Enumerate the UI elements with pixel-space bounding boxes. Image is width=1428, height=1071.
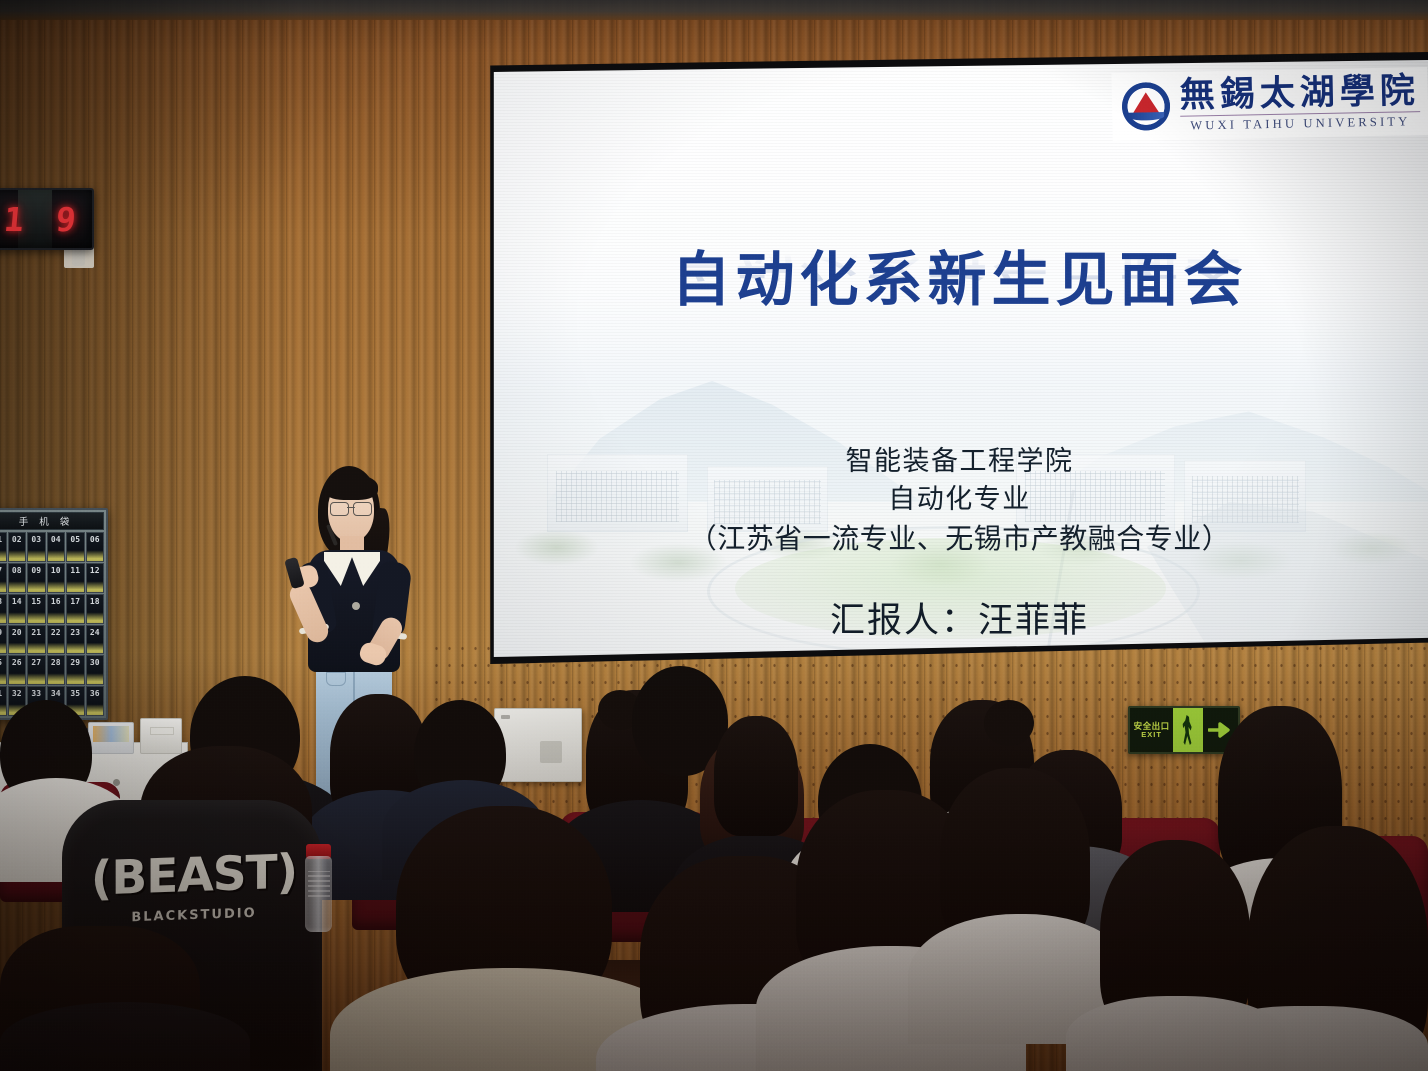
phone-pocket[interactable]: 13 [0,594,7,624]
glasses-lens-right [353,502,372,516]
led-clock-display: 1 9 [0,188,94,250]
wall-shadow-bottom [0,651,1428,1071]
glasses-icon [330,502,372,514]
projection-screen[interactable]: 無錫太湖學院 WUXI TAIHU UNIVERSITY 自动化系新生见面会 自… [491,60,1428,657]
slide-title: 自动化系新生见面会 [491,232,1428,317]
university-seal-icon [1122,82,1171,131]
phone-pocket[interactable]: 20 [8,625,27,655]
phone-pocket[interactable]: 09 [27,563,46,593]
projection-screen-bezel: 無錫太湖學院 WUXI TAIHU UNIVERSITY 自动化系新生见面会 自… [486,52,1428,664]
logo-text-block: 無錫太湖學院 WUXI TAIHU UNIVERSITY [1179,73,1420,134]
phone-pocket[interactable]: 18 [86,594,105,624]
university-logo: 無錫太湖學院 WUXI TAIHU UNIVERSITY [1111,67,1428,141]
phone-pocket[interactable]: 14 [8,594,27,624]
slide-body-line-2: 自动化专业 [491,480,1428,518]
shirt-emblem [352,602,360,610]
phone-pocket[interactable]: 12 [86,563,105,593]
phone-pocket[interactable]: 21 [27,625,46,655]
phone-pocket[interactable]: 15 [27,594,46,624]
phone-pocket[interactable]: 23 [66,625,85,655]
presenter-fringe [324,474,378,500]
phone-pocket[interactable]: 03 [27,532,46,562]
phone-pocket[interactable]: 06 [86,532,105,562]
phone-pocket[interactable]: 02 [8,532,27,562]
phone-pocket[interactable]: 04 [47,532,66,562]
phone-pocket[interactable]: 08 [8,563,27,593]
slide-presenter-line: 汇报人：汪菲菲 [491,592,1428,643]
phone-pocket[interactable]: 24 [86,625,105,655]
phone-pocket[interactable]: 07 [0,563,7,593]
phone-pocket[interactable]: 19 [0,625,7,655]
seal-wave-shape [1128,112,1165,121]
glasses-lens-left [330,502,349,516]
led-digit-left: 1 [2,200,25,239]
phone-pocket[interactable]: 01 [0,532,7,562]
phone-pocket[interactable]: 16 [47,594,66,624]
phone-pocket[interactable]: 05 [66,532,85,562]
phone-pocket[interactable]: 22 [47,625,66,655]
phone-pocket[interactable]: 10 [47,563,66,593]
slide-body-line-3: （江苏省一流专业、无锡市产教融合专业） [491,519,1428,559]
lecture-hall-photo: 無錫太湖學院 WUXI TAIHU UNIVERSITY 自动化系新生见面会 自… [0,0,1428,1071]
slide-body-line-1: 智能装备工程学院 [491,442,1428,480]
logo-chinese-name: 無錫太湖學院 [1179,73,1420,113]
phone-pocket[interactable]: 17 [66,594,85,624]
phone-pocket[interactable]: 11 [66,563,85,593]
slide-body: 智能装备工程学院 自动化专业 （江苏省一流专业、无锡市产教融合专业） 汇报人：汪… [491,442,1428,643]
led-digit-right: 9 [54,200,77,239]
logo-english-name: WUXI TAIHU UNIVERSITY [1180,111,1420,134]
organizer-title: 手 机 袋 [0,512,104,530]
